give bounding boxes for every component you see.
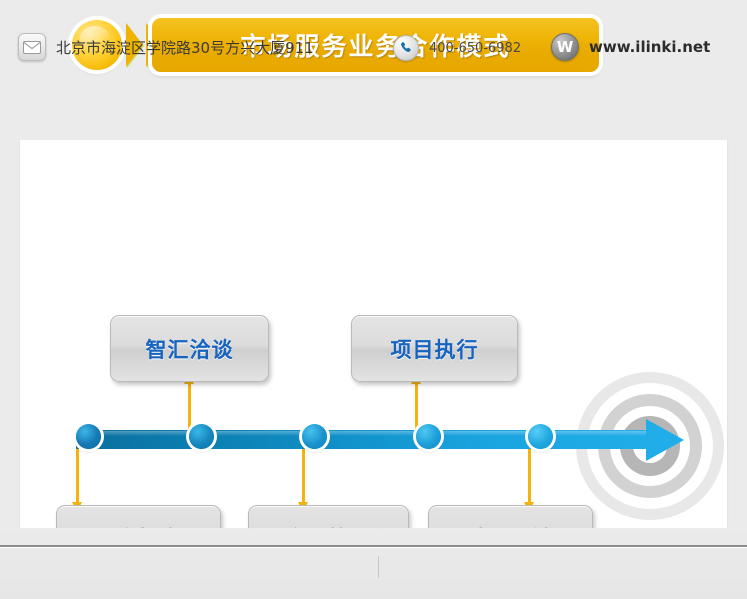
connector-arrow-down: [76, 448, 79, 503]
connector-arrow-down: [302, 448, 305, 503]
timeline-track: [76, 430, 650, 449]
connector-arrow-down: [528, 448, 531, 503]
timeline-node[interactable]: [302, 424, 327, 449]
timeline-node[interactable]: [76, 424, 101, 449]
footer-website-text: www.ilinki.net: [589, 38, 710, 56]
connector-arrow-up: [188, 383, 191, 429]
mail-envelope-icon: [18, 33, 46, 61]
footer-separator: [378, 556, 379, 578]
footer-bar: [0, 528, 747, 599]
step-box-top-2[interactable]: 项目执行: [351, 315, 518, 382]
step-box-top-1[interactable]: 智汇洽谈: [110, 315, 269, 382]
arrow-right-icon: [646, 419, 684, 461]
footer-phone-text: 400-650-6982: [429, 41, 521, 56]
globe-icon: W: [551, 33, 579, 61]
step-label: 项目执行: [391, 334, 479, 364]
timeline-node[interactable]: [528, 424, 553, 449]
footer-phone: 400-650-6982: [393, 35, 521, 61]
connector-arrow-up: [415, 383, 418, 429]
footer-address: 北京市海淀区学院路30号方兴大厦911: [18, 33, 314, 61]
timeline-bar: [76, 430, 650, 449]
phone-icon: [393, 35, 419, 61]
timeline-node[interactable]: [416, 424, 441, 449]
step-label: 智汇洽谈: [146, 334, 234, 364]
timeline-node[interactable]: [189, 424, 214, 449]
footer-website[interactable]: W www.ilinki.net: [551, 33, 710, 61]
footer-address-text: 北京市海淀区学院路30号方兴大厦911: [56, 37, 314, 58]
footer-divider-highlight: [0, 547, 747, 548]
globe-icon-glyph: W: [557, 38, 574, 56]
slide-canvas: 智汇洽谈 项目执行 需求提交 合同签署 结果反馈: [20, 140, 727, 528]
